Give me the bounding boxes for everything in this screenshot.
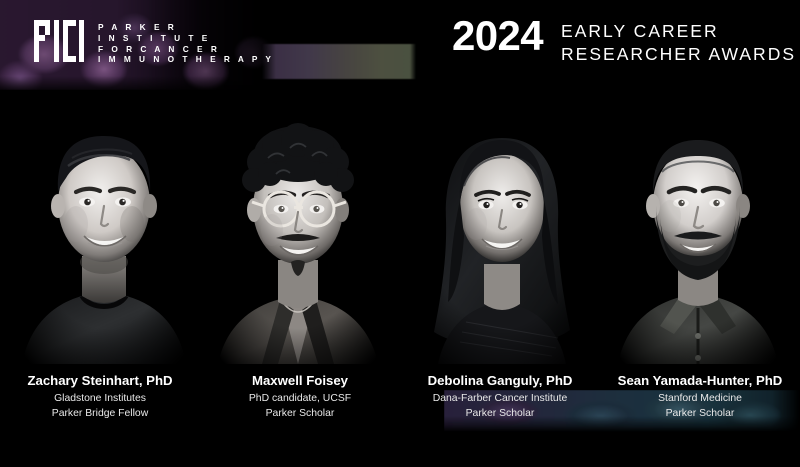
awardee-affiliation: PhD candidate, UCSF [206, 391, 394, 406]
awardee-captions: Zachary Steinhart, PhD Gladstone Institu… [0, 372, 800, 421]
portrait-maxwell-foisey [212, 96, 384, 364]
awardee-name: Maxwell Foisey [206, 372, 394, 391]
portrait-debolina-ganguly [416, 96, 588, 364]
logo-line-immunotherapy: I M M U N O T H E R A P Y [98, 55, 274, 63]
awardee-program: Parker Scholar [406, 406, 594, 421]
awardee-caption: Maxwell Foisey PhD candidate, UCSF Parke… [200, 372, 400, 421]
portrait-sean-yamada-hunter [612, 96, 784, 364]
awardee-program: Parker Scholar [606, 406, 794, 421]
awardee-program: Parker Scholar [206, 406, 394, 421]
headline-title-line-2: RESEARCHER AWARDS [561, 43, 796, 66]
awardee-affiliation: Dana-Farber Cancer Institute [406, 391, 594, 406]
pici-logo-wordmark: P A R K E R I N S T I T U T E F O R C A … [98, 20, 274, 64]
pici-logo-mark-icon [34, 20, 84, 62]
pici-logo-lockup: P A R K E R I N S T I T U T E F O R C A … [34, 20, 274, 64]
awardee-name: Debolina Ganguly, PhD [406, 372, 594, 391]
gradient-band-header [262, 44, 416, 79]
awardee-name: Sean Yamada-Hunter, PhD [606, 372, 794, 391]
headline-title: EARLY CAREER RESEARCHER AWARDS [561, 16, 796, 67]
award-poster: P A R K E R I N S T I T U T E F O R C A … [0, 0, 800, 467]
portrait-row [0, 96, 800, 364]
awardee-caption: Zachary Steinhart, PhD Gladstone Institu… [0, 372, 200, 421]
headline-year: 2024 [452, 16, 543, 56]
portrait-zachary-steinhart [18, 96, 190, 364]
awardee-caption: Debolina Ganguly, PhD Dana-Farber Cancer… [400, 372, 600, 421]
awardee-program: Parker Bridge Fellow [6, 406, 194, 421]
headline-title-line-1: EARLY CAREER [561, 20, 796, 43]
awardee-affiliation: Gladstone Institutes [6, 391, 194, 406]
headline-block: 2024 EARLY CAREER RESEARCHER AWARDS [452, 16, 796, 67]
awardee-affiliation: Stanford Medicine [606, 391, 794, 406]
logo-line-parker: P A R K E R [98, 23, 274, 31]
awardee-caption: Sean Yamada-Hunter, PhD Stanford Medicin… [600, 372, 800, 421]
awardee-name: Zachary Steinhart, PhD [6, 372, 194, 391]
logo-line-institute: I N S T I T U T E [98, 34, 274, 42]
cell-texture-top-left-fade [0, 76, 300, 98]
logo-line-for-cancer: F O R C A N C E R [98, 45, 274, 53]
